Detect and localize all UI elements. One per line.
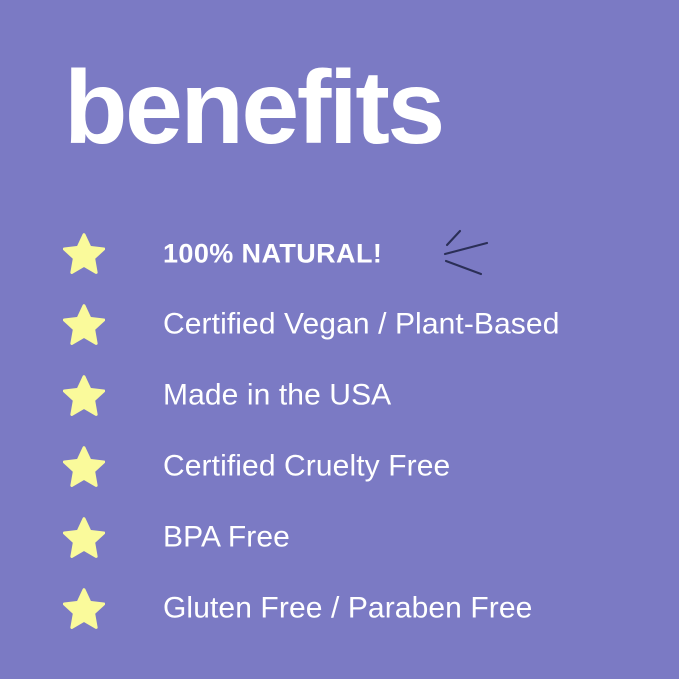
star-icon (63, 375, 105, 417)
list-item: Certified Cruelty Free (0, 431, 679, 502)
list-item: 100% NATURAL! (0, 218, 679, 289)
star-icon (63, 233, 105, 275)
benefits-list: 100% NATURAL! Certified Vegan / Plant-Ba… (0, 218, 679, 644)
sparkle-icon (443, 228, 489, 280)
list-item-label: Certified Vegan / Plant-Based (163, 307, 559, 341)
list-item-label: Made in the USA (163, 378, 391, 412)
list-item: Made in the USA (0, 360, 679, 431)
star-icon (63, 588, 105, 630)
list-item: BPA Free (0, 502, 679, 573)
benefits-poster: benefits 100% NATURAL! Certified Vegan /… (0, 0, 679, 679)
page-title: benefits (64, 52, 443, 164)
list-item: Gluten Free / Paraben Free (0, 573, 679, 644)
list-item-label: Certified Cruelty Free (163, 449, 450, 483)
star-icon (63, 304, 105, 346)
list-item-label: 100% NATURAL! (163, 236, 382, 270)
list-item: Certified Vegan / Plant-Based (0, 289, 679, 360)
star-icon (63, 446, 105, 488)
star-icon (63, 517, 105, 559)
list-item-label: Gluten Free / Paraben Free (163, 591, 532, 625)
list-item-label: BPA Free (163, 520, 290, 554)
